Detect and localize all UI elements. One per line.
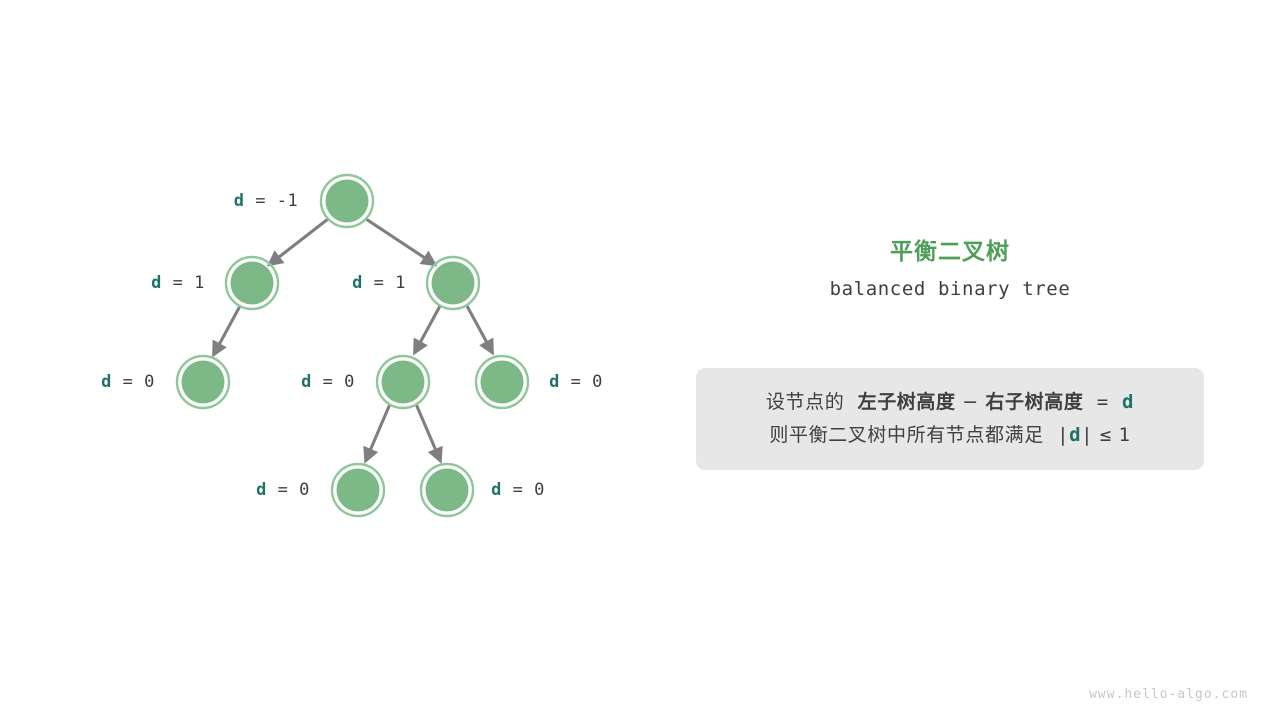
- tree-node-left-left: [177, 356, 229, 408]
- node-label-right-left: d = 0: [301, 372, 355, 392]
- label-var-d: d: [151, 273, 162, 293]
- abs-bar-open: |: [1057, 424, 1069, 446]
- tree-node-root: [321, 175, 373, 227]
- tree-node-left: [226, 257, 278, 309]
- label-value: = 1: [363, 273, 406, 293]
- label-var-d: d: [101, 372, 112, 392]
- label-var-d: d: [491, 480, 502, 500]
- definition-prefix: 设节点的: [766, 391, 844, 413]
- edge-left-to-ll: [214, 306, 240, 354]
- edge-right-to-rr: [467, 306, 492, 352]
- tree-graphic: [0, 0, 680, 720]
- node-label-root: d = -1: [234, 191, 298, 211]
- panel-subtitle: balanced binary tree: [696, 278, 1204, 300]
- definition-var-d: d: [1069, 424, 1081, 446]
- definition-bound: 1: [1119, 424, 1131, 446]
- label-value: = 0: [267, 480, 310, 500]
- definition-minus: −: [962, 391, 979, 413]
- label-var-d: d: [352, 273, 363, 293]
- tree-node-right-left-left: [332, 464, 384, 516]
- panel-title: 平衡二叉树: [696, 232, 1204, 266]
- edge-rl-to-rlr: [416, 404, 440, 460]
- abs-bar-close: |: [1081, 424, 1093, 446]
- node-label-right-left-right: d = 0: [491, 480, 545, 500]
- label-var-d: d: [256, 480, 267, 500]
- definition-box: 设节点的 左子树高度 − 右子树高度 = d 则平衡二叉树中所有节点都满足 |d…: [696, 368, 1204, 470]
- node-label-left-left: d = 0: [101, 372, 155, 392]
- edge-layer: [214, 219, 492, 460]
- node-label-left: d = 1: [151, 273, 205, 293]
- label-value: = 0: [112, 372, 155, 392]
- label-value: = -1: [245, 191, 299, 211]
- label-var-d: d: [234, 191, 245, 211]
- definition-var-d: d: [1122, 391, 1134, 413]
- footer-url: www.hello-algo.com: [1089, 687, 1248, 702]
- node-label-right-left-left: d = 0: [256, 480, 310, 500]
- definition-equals: =: [1097, 391, 1109, 413]
- edge-root-to-right: [366, 219, 434, 264]
- node-layer: [177, 175, 528, 516]
- tree-node-right-left: [377, 356, 429, 408]
- definition-line-1: 设节点的 左子树高度 − 右子树高度 = d: [696, 386, 1204, 419]
- label-value: = 0: [502, 480, 545, 500]
- label-var-d: d: [549, 372, 560, 392]
- tree-node-right: [427, 257, 479, 309]
- node-label-right-right: d = 0: [549, 372, 603, 392]
- edge-root-to-left: [270, 219, 328, 264]
- definition-line-2: 则平衡二叉树中所有节点都满足 |d| ≤ 1: [696, 419, 1204, 452]
- edge-rl-to-rll: [366, 404, 390, 460]
- label-value: = 1: [162, 273, 205, 293]
- tree-diagram: d = -1 d = 1 d = 1 d = 0 d = 0 d = 0 d =…: [0, 0, 680, 720]
- label-var-d: d: [301, 372, 312, 392]
- node-label-right: d = 1: [352, 273, 406, 293]
- edge-right-to-rl: [415, 306, 440, 352]
- definition-operator: ≤: [1100, 424, 1112, 446]
- tree-node-right-right: [476, 356, 528, 408]
- definition-left-height: 左子树高度: [858, 391, 956, 413]
- definition-right-height: 右子树高度: [985, 391, 1083, 413]
- tree-node-right-left-right: [421, 464, 473, 516]
- definition-condition-prefix: 则平衡二叉树中所有节点都满足: [769, 424, 1043, 446]
- label-value: = 0: [560, 372, 603, 392]
- info-panel: 平衡二叉树 balanced binary tree 设节点的 左子树高度 − …: [696, 0, 1204, 720]
- label-value: = 0: [312, 372, 355, 392]
